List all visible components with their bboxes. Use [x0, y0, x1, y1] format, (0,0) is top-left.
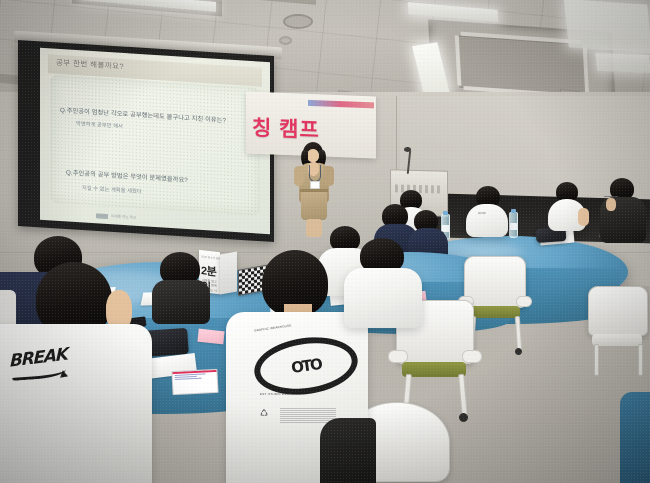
banner-title: 칭 캠프 — [252, 112, 320, 145]
presenter-badge — [310, 181, 320, 189]
microphone-icon — [404, 147, 411, 152]
student-left-break: BREAK — [0, 262, 160, 483]
eyeglasses-icon — [604, 196, 618, 200]
student-shirt — [0, 324, 152, 483]
chair[interactable] — [586, 286, 650, 376]
student-shadow-drape — [320, 418, 376, 483]
ceiling-light-panel — [564, 0, 650, 53]
projection-screen: 공부 한번 해볼까요? Q.주인공이 엄청난 각오로 공부했는데도 물구나고 지… — [18, 48, 274, 238]
chair-leg — [458, 374, 468, 418]
presenter-lanyard — [309, 165, 321, 182]
presenter-sleeve — [294, 166, 304, 186]
shirt-small-print-2: EST. STUDIO WEAR — [260, 392, 292, 396]
bottle-cap — [511, 209, 516, 213]
banner-accent-strip — [308, 100, 374, 109]
pink-worksheet — [197, 329, 224, 345]
chair-armrest — [462, 350, 482, 363]
smoke-detector-icon — [283, 14, 313, 29]
slide-body — [50, 74, 260, 215]
screen-surface: 공부 한번 해볼까요? Q.주인공이 엄청난 각오로 공부했는데도 물구나고 지… — [40, 48, 270, 234]
slide-dot-texture — [50, 74, 260, 215]
student-shirt — [466, 204, 508, 237]
presenter-head — [307, 149, 319, 162]
photo-scene: 공부 한번 해볼까요? Q.주인공이 엄청난 각오로 공부했는데도 물구나고 지… — [0, 0, 650, 483]
chair-caster — [515, 348, 522, 355]
bottle-cap — [443, 211, 448, 215]
presenter — [292, 142, 336, 238]
lanyard-badge — [171, 369, 218, 395]
ceiling-light-panel — [595, 53, 650, 73]
badge-text-line — [175, 378, 202, 380]
bottle-label — [510, 223, 517, 230]
student-shirt — [344, 268, 422, 328]
student-shirt — [152, 280, 210, 324]
chair-leg — [515, 316, 522, 352]
slide-footer-text: 미래를 여는 학교 — [111, 214, 136, 221]
chair-caster — [459, 413, 468, 422]
student-center-oto: GRAPHIC WEARHOUSE OTO EST. STUDIO WEAR ♺ — [232, 250, 362, 483]
student-arm — [578, 208, 589, 226]
water-bottle — [509, 212, 518, 238]
presenter-legs — [306, 219, 322, 237]
smoke-detector-icon — [279, 36, 292, 45]
presenter-sleeve — [324, 166, 334, 186]
slide-footer-logo-icon — [96, 213, 108, 219]
chair-leg — [638, 344, 643, 376]
chair-leg — [594, 344, 599, 376]
tent-top-label: 2025 청소년 캠프 — [201, 254, 221, 261]
student-shirt — [620, 392, 650, 483]
shirt-print: UNIV — [478, 211, 486, 215]
recycle-icon: ♺ — [260, 408, 268, 419]
chair-armrest — [516, 296, 532, 307]
chair-seat — [592, 334, 642, 346]
presenter-skirt — [301, 192, 327, 220]
shirt-graphic-text: OTO — [290, 355, 322, 377]
chair-backrest — [588, 286, 648, 336]
